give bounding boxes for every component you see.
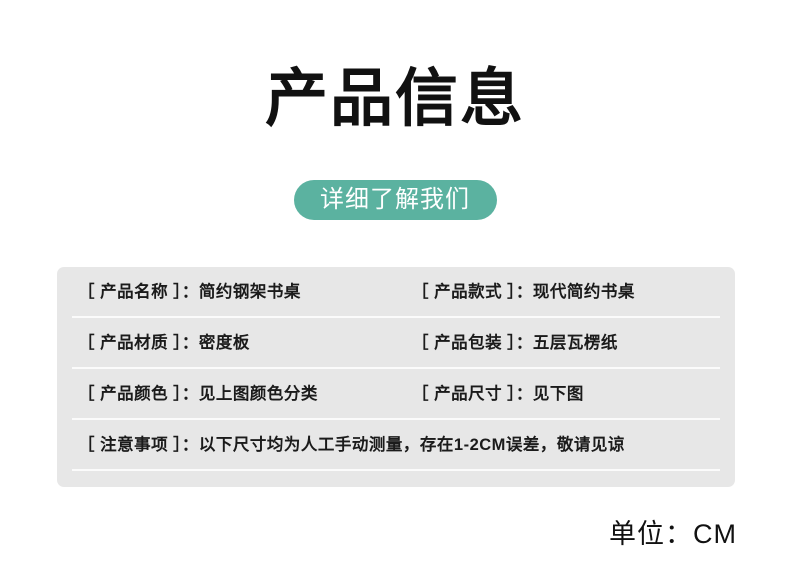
spec-cell-name: ［ 产品名称 ］： 简约钢架书桌 (57, 284, 412, 301)
spec-label: ［ 产品款式 ］： (412, 284, 533, 301)
spec-value: 密度板 (199, 335, 250, 352)
table-row-note: ［ 注意事项 ］： 以下尺寸均为人工手动测量，存在1-2CM误差，敬请见谅 (57, 420, 735, 471)
spec-value: 简约钢架书桌 (199, 284, 301, 301)
spec-label: ［ 产品颜色 ］： (78, 386, 199, 403)
spec-label: ［ 产品材质 ］： (78, 335, 199, 352)
spec-label: ［ 产品包装 ］： (412, 335, 533, 352)
spec-label: ［ 产品尺寸 ］： (412, 386, 533, 403)
spec-value: 五层瓦楞纸 (533, 335, 618, 352)
page-title: 产品信息 (0, 66, 790, 132)
spec-cell-color: ［ 产品颜色 ］： 见上图颜色分类 (57, 386, 412, 403)
spec-cell-notice: ［ 注意事项 ］： 以下尺寸均为人工手动测量，存在1-2CM误差，敬请见谅 (57, 437, 625, 454)
unit-note: 单位：CM (0, 512, 737, 551)
spec-cell-packaging: ［ 产品包装 ］： 五层瓦楞纸 (412, 335, 618, 352)
spec-cell-material: ［ 产品材质 ］： 密度板 (57, 335, 412, 352)
spec-cell-size: ［ 产品尺寸 ］： 见下图 (412, 386, 584, 403)
product-info-page: 产品信息 详细了解我们 ［ 产品名称 ］： 简约钢架书桌 ［ 产品款式 ］： 现… (0, 0, 790, 565)
table-row: ［ 产品颜色 ］： 见上图颜色分类 ［ 产品尺寸 ］： 见下图 (57, 369, 735, 420)
spec-value: 见上图颜色分类 (199, 386, 318, 403)
subtitle-badge-container: 详细了解我们 (0, 180, 790, 220)
spec-label: ［ 注意事项 ］： (78, 437, 199, 454)
table-row: ［ 产品名称 ］： 简约钢架书桌 ［ 产品款式 ］： 现代简约书桌 (57, 267, 735, 318)
spec-panel: ［ 产品名称 ］： 简约钢架书桌 ［ 产品款式 ］： 现代简约书桌 ［ 产品材质… (57, 267, 735, 487)
spec-value: 以下尺寸均为人工手动测量，存在1-2CM误差，敬请见谅 (199, 437, 625, 454)
spec-value: 现代简约书桌 (533, 284, 635, 301)
table-row: ［ 产品材质 ］： 密度板 ［ 产品包装 ］： 五层瓦楞纸 (57, 318, 735, 369)
spec-cell-style: ［ 产品款式 ］： 现代简约书桌 (412, 284, 635, 301)
spec-label: ［ 产品名称 ］： (78, 284, 199, 301)
spec-value: 见下图 (533, 386, 584, 403)
subtitle-badge: 详细了解我们 (294, 180, 497, 220)
